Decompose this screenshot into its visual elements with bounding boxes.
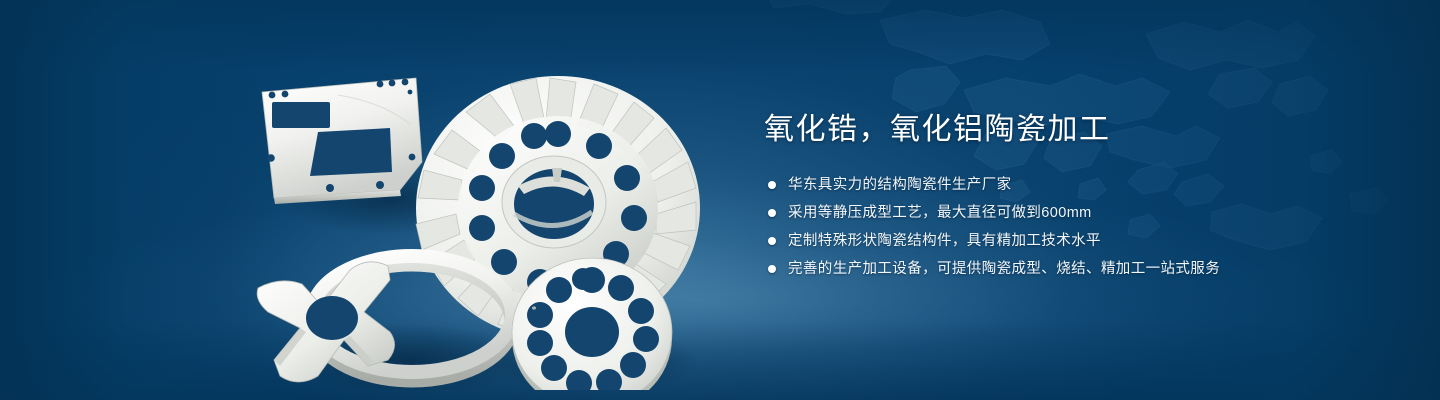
ceramic-mounting-plate (262, 78, 422, 204)
feature-text: 华东具实力的结构陶瓷件生产厂家 (788, 175, 1012, 196)
feature-text: 定制特殊形状陶瓷结构件，具有精加工技术水平 (788, 231, 1101, 252)
hero-banner: 氧化锆，氧化铝陶瓷加工 华东具实力的结构陶瓷件生产厂家 采用等静压成型工艺，最大… (0, 0, 1440, 400)
feature-text: 采用等静压成型工艺，最大直径可做到600mm (788, 203, 1092, 224)
feature-list: 华东具实力的结构陶瓷件生产厂家 采用等静压成型工艺，最大直径可做到600mm 定… (768, 175, 1384, 280)
bullet-dot-icon (768, 265, 776, 273)
bullet-dot-icon (768, 209, 776, 217)
list-item: 华东具实力的结构陶瓷件生产厂家 (768, 175, 1384, 196)
bullet-dot-icon (768, 181, 776, 189)
feature-text: 完善的生产加工设备，可提供陶瓷成型、烧结、精加工一站式服务 (788, 259, 1220, 280)
banner-copy: 氧化锆，氧化铝陶瓷加工 华东具实力的结构陶瓷件生产厂家 采用等静压成型工艺，最大… (764, 112, 1384, 280)
list-item: 定制特殊形状陶瓷结构件，具有精加工技术水平 (768, 231, 1384, 252)
banner-headline: 氧化锆，氧化铝陶瓷加工 (764, 112, 1384, 149)
bullet-dot-icon (768, 237, 776, 245)
list-item: 采用等静压成型工艺，最大直径可做到600mm (768, 203, 1384, 224)
list-item: 完善的生产加工设备，可提供陶瓷成型、烧结、精加工一站式服务 (768, 259, 1384, 280)
product-photo-group (240, 40, 700, 390)
